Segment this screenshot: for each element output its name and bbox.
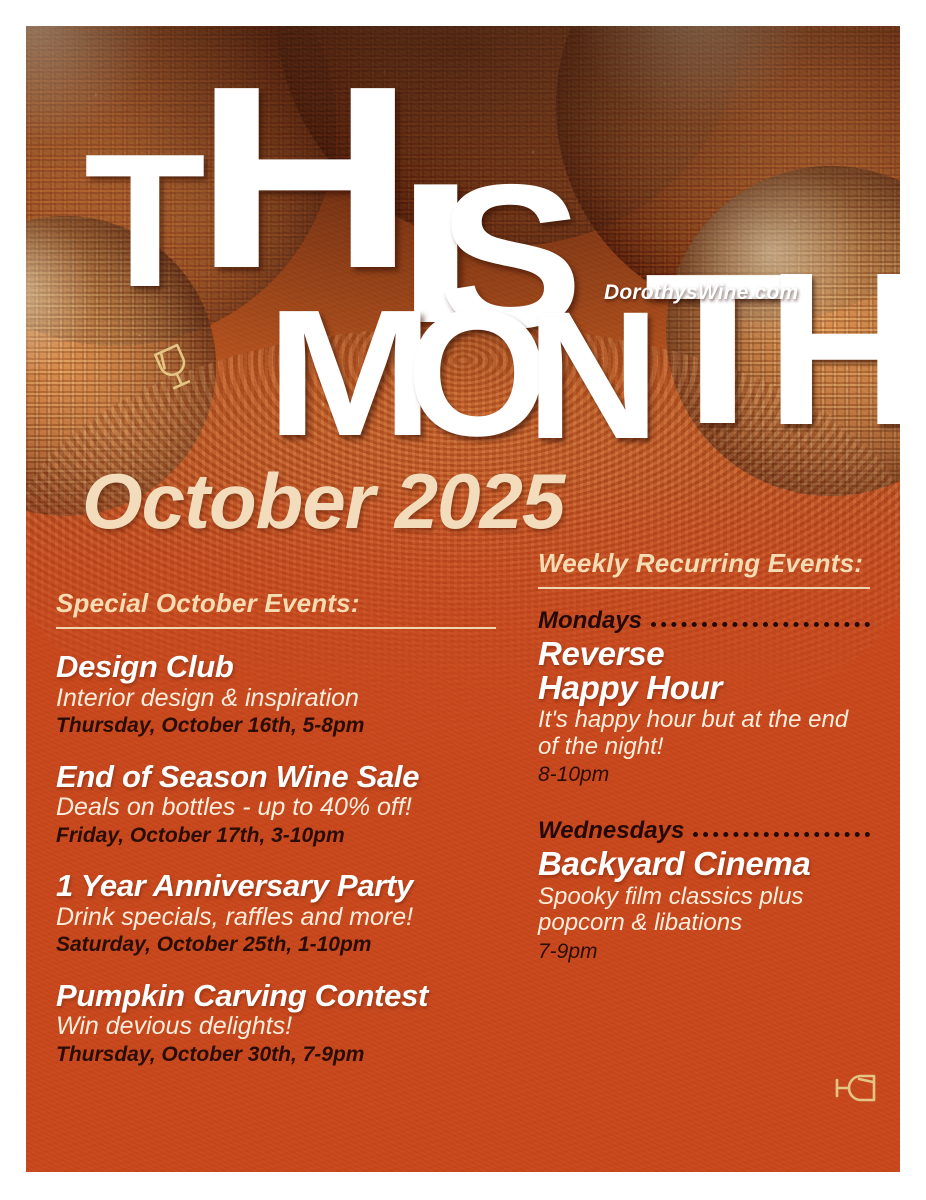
weekly-event-item[interactable]: Mondays Reverse Happy Hour It's happy ho…: [538, 607, 870, 787]
event-description: Interior design & inspiration: [56, 685, 496, 713]
heading-divider: [56, 627, 496, 629]
event-datetime: Friday, October 17th, 3-10pm: [56, 824, 496, 848]
weekly-event-description: Spooky film classics plus popcorn & liba…: [538, 884, 870, 937]
weekly-events-heading: Weekly Recurring Events:: [538, 548, 870, 579]
weekly-day-row: Wednesdays: [538, 817, 870, 845]
event-title: Design Club: [56, 651, 496, 684]
event-description: Deals on bottles - up to 40% off!: [56, 794, 496, 822]
weekly-day-label: Wednesdays: [538, 817, 684, 845]
dotted-leader: [693, 832, 870, 837]
poster-canvas: T H I S M O N T H DorothysWine.com Octob…: [26, 26, 900, 1172]
title-letter-h2: H: [766, 241, 900, 459]
weekly-event-title: Backyard Cinema: [538, 847, 870, 881]
dotted-leader: [651, 622, 870, 627]
wine-glass-icon: [826, 1066, 882, 1119]
month-year-label: October 2025: [82, 456, 564, 547]
event-title: 1 Year Anniversary Party: [56, 870, 496, 903]
weekly-event-description: It's happy hour but at the end of the ni…: [538, 707, 870, 760]
website-url[interactable]: DorothysWine.com: [604, 281, 798, 305]
event-item[interactable]: End of Season Wine Sale Deals on bottles…: [56, 761, 496, 849]
event-item[interactable]: 1 Year Anniversary Party Drink specials,…: [56, 870, 496, 958]
title-letter-n: N: [526, 284, 658, 466]
weekly-events-column: Weekly Recurring Events: Mondays Reverse…: [538, 548, 870, 964]
event-title: End of Season Wine Sale: [56, 761, 496, 794]
event-datetime: Saturday, October 25th, 1-10pm: [56, 933, 496, 957]
title-letter-h1: H: [194, 48, 413, 308]
event-item[interactable]: Design Club Interior design & inspiratio…: [56, 651, 496, 739]
event-title: Pumpkin Carving Contest: [56, 980, 496, 1013]
weekly-event-title: Reverse Happy Hour: [538, 637, 870, 704]
special-events-heading: Special October Events:: [56, 588, 496, 619]
weekly-event-time: 7-9pm: [538, 940, 870, 964]
weekly-event-title-line1: Reverse: [538, 635, 664, 672]
event-item[interactable]: Pumpkin Carving Contest Win devious deli…: [56, 980, 496, 1068]
weekly-event-title-line2: Happy Hour: [538, 669, 722, 706]
heading-divider: [538, 587, 870, 589]
event-description: Drink specials, raffles and more!: [56, 904, 496, 932]
special-events-column: Special October Events: Design Club Inte…: [56, 588, 496, 1067]
weekly-event-time: 8-10pm: [538, 763, 870, 787]
weekly-day-row: Mondays: [538, 607, 870, 635]
wine-glass-icon: [151, 338, 207, 395]
title-letter-t1: T: [84, 126, 204, 316]
event-description: Win devious delights!: [56, 1013, 496, 1041]
weekly-event-item[interactable]: Wednesdays Backyard Cinema Spooky film c…: [538, 817, 870, 963]
weekly-day-label: Mondays: [538, 607, 642, 635]
event-datetime: Thursday, October 16th, 5-8pm: [56, 714, 496, 738]
event-datetime: Thursday, October 30th, 7-9pm: [56, 1043, 496, 1067]
